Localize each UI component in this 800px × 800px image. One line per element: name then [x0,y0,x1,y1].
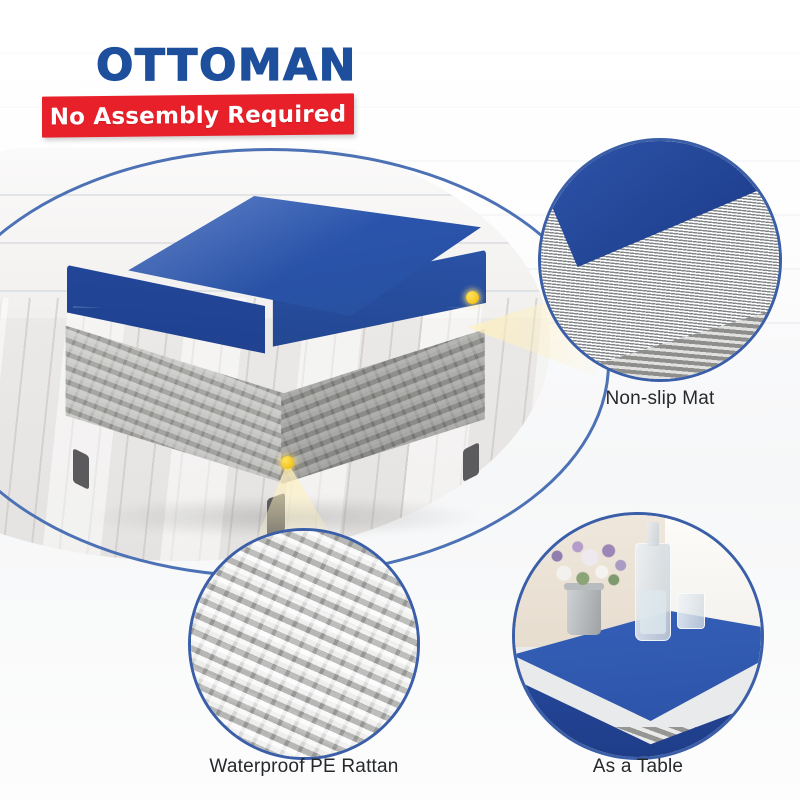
rattan-macro-texture [188,528,420,760]
marker-dot-icon [281,456,294,469]
product-infographic: OTTOMAN No Assembly Required [0,0,800,800]
detail-circle-as-a-table [512,512,764,760]
ottoman-product [55,196,500,526]
caption-non-slip-mat: Non-slip Mat [540,388,780,410]
detail-circle-waterproof-pe-rattan [188,528,420,760]
marker-dot-icon [466,291,479,304]
caption-waterproof-pe-rattan: Waterproof PE Rattan [184,756,424,778]
ottoman-foot [463,442,479,482]
detail-circle-non-slip-mat [538,138,782,382]
page-title: OTTOMAN [96,44,357,88]
no-assembly-badge-label: No Assembly Required [42,93,354,137]
glass-bottle [635,543,671,641]
drinking-glass [677,593,705,629]
flower-bouquet [545,531,631,597]
ottoman-foot [73,448,89,490]
caption-as-a-table: As a Table [514,756,762,778]
